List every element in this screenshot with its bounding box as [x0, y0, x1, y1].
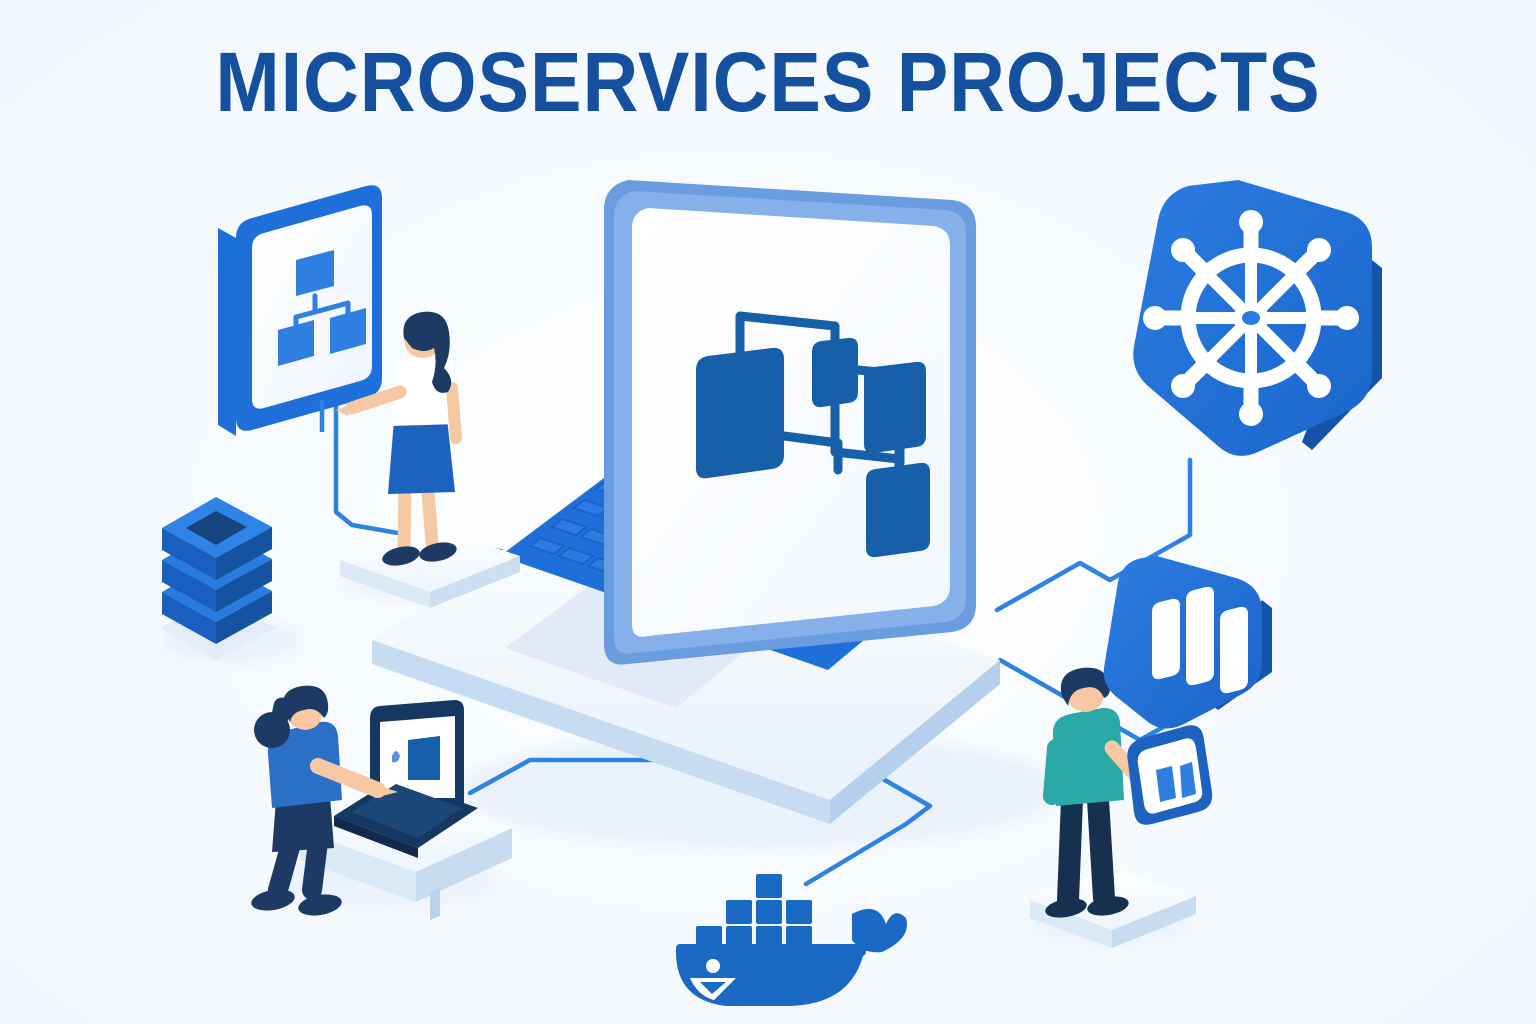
- skirt: [388, 418, 455, 494]
- database-stack[interactable]: [160, 497, 276, 660]
- kubernetes-badge[interactable]: [1133, 180, 1382, 456]
- isometric-scene: [0, 0, 1536, 1024]
- central-laptop[interactable]: [372, 180, 1000, 824]
- service-box-a: [696, 348, 784, 478]
- docker-containers: [696, 874, 812, 950]
- docker-tail: [852, 909, 907, 952]
- docker-whale[interactable]: [676, 874, 907, 1006]
- board-screen: [252, 205, 372, 408]
- dev-screen-box: [408, 736, 440, 780]
- service-box-gateway: [812, 338, 858, 407]
- docker-eye: [706, 959, 720, 973]
- metrics-badge[interactable]: [1104, 556, 1272, 729]
- illustration-canvas: MICROSERVICES PROJECTS: [0, 0, 1536, 1024]
- board-side-face: [218, 228, 236, 436]
- analyst-tablet[interactable]: [1127, 725, 1212, 825]
- architecture-board[interactable]: [218, 185, 382, 436]
- kubernetes-helm-icon: [1143, 210, 1359, 426]
